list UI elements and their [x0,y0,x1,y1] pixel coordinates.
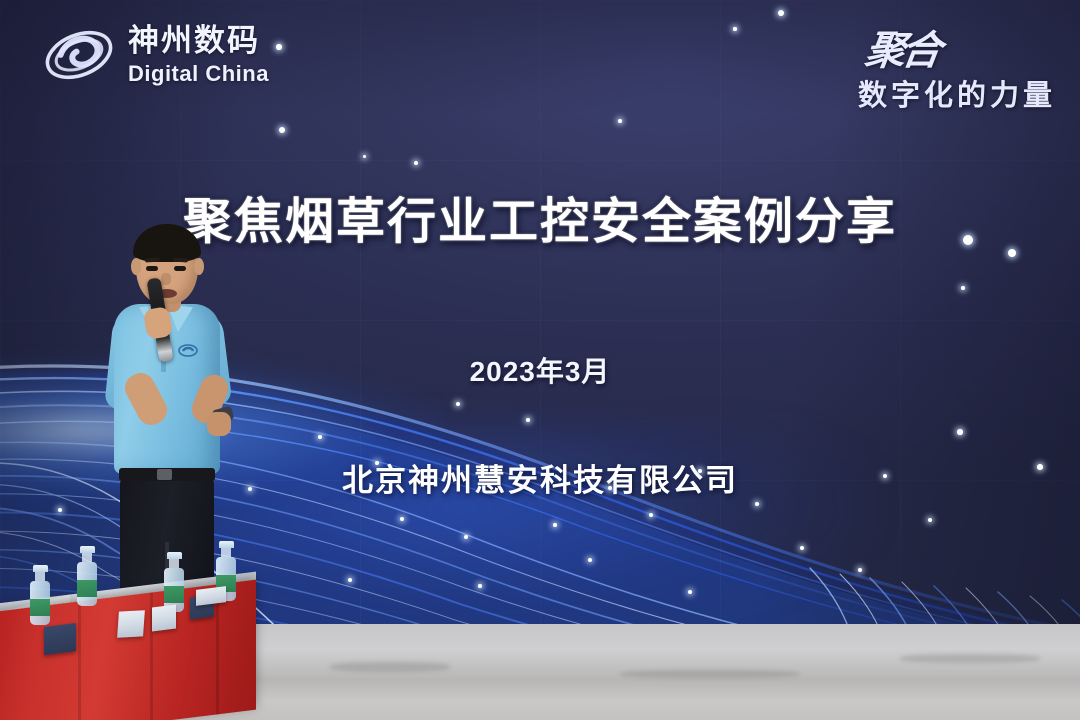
name-card [44,623,76,655]
name-card [152,605,176,632]
brand-logo: 神州数码 Digital China [42,18,269,92]
water-bottle [30,565,50,625]
event-mark: 聚合 数字化的力量 [858,18,1056,114]
chest-embroidery-icon [177,342,199,359]
event-subtitle-cn: 数字化的力量 [858,72,1056,114]
brand-name-cn: 神州数码 [128,25,269,56]
sparkle-particle [363,155,366,158]
speaker-hand-holding-clicker [207,412,231,436]
speaker-ear-left [131,258,141,275]
speaker-eye-left [146,266,158,271]
speaker-person [95,222,280,622]
sparkle-particle [414,161,418,165]
sparkle-particle [961,286,965,290]
sparkle-particle [733,27,736,30]
sparkle-particle [279,127,285,133]
event-cursive-cn: 聚合 [862,18,942,76]
sparkle-particle [276,44,281,49]
sparkle-particle [778,10,784,16]
water-bottle [77,546,97,606]
speaker-hair [133,224,201,262]
name-card [117,610,145,638]
brand-name-en: Digital China [128,63,269,85]
speaker-ear-right [194,258,204,275]
spiral-swirl-icon [42,18,116,92]
sparkle-particle [618,119,622,123]
speaker-nose [161,273,171,285]
speaker-belt-buckle [157,469,172,480]
speaker-eye-right [174,266,186,271]
water-bottle [164,552,184,612]
conference-photo: 神州数码 Digital China 聚合 数字化的力量 聚焦烟草行业工控安全案… [0,0,1080,720]
